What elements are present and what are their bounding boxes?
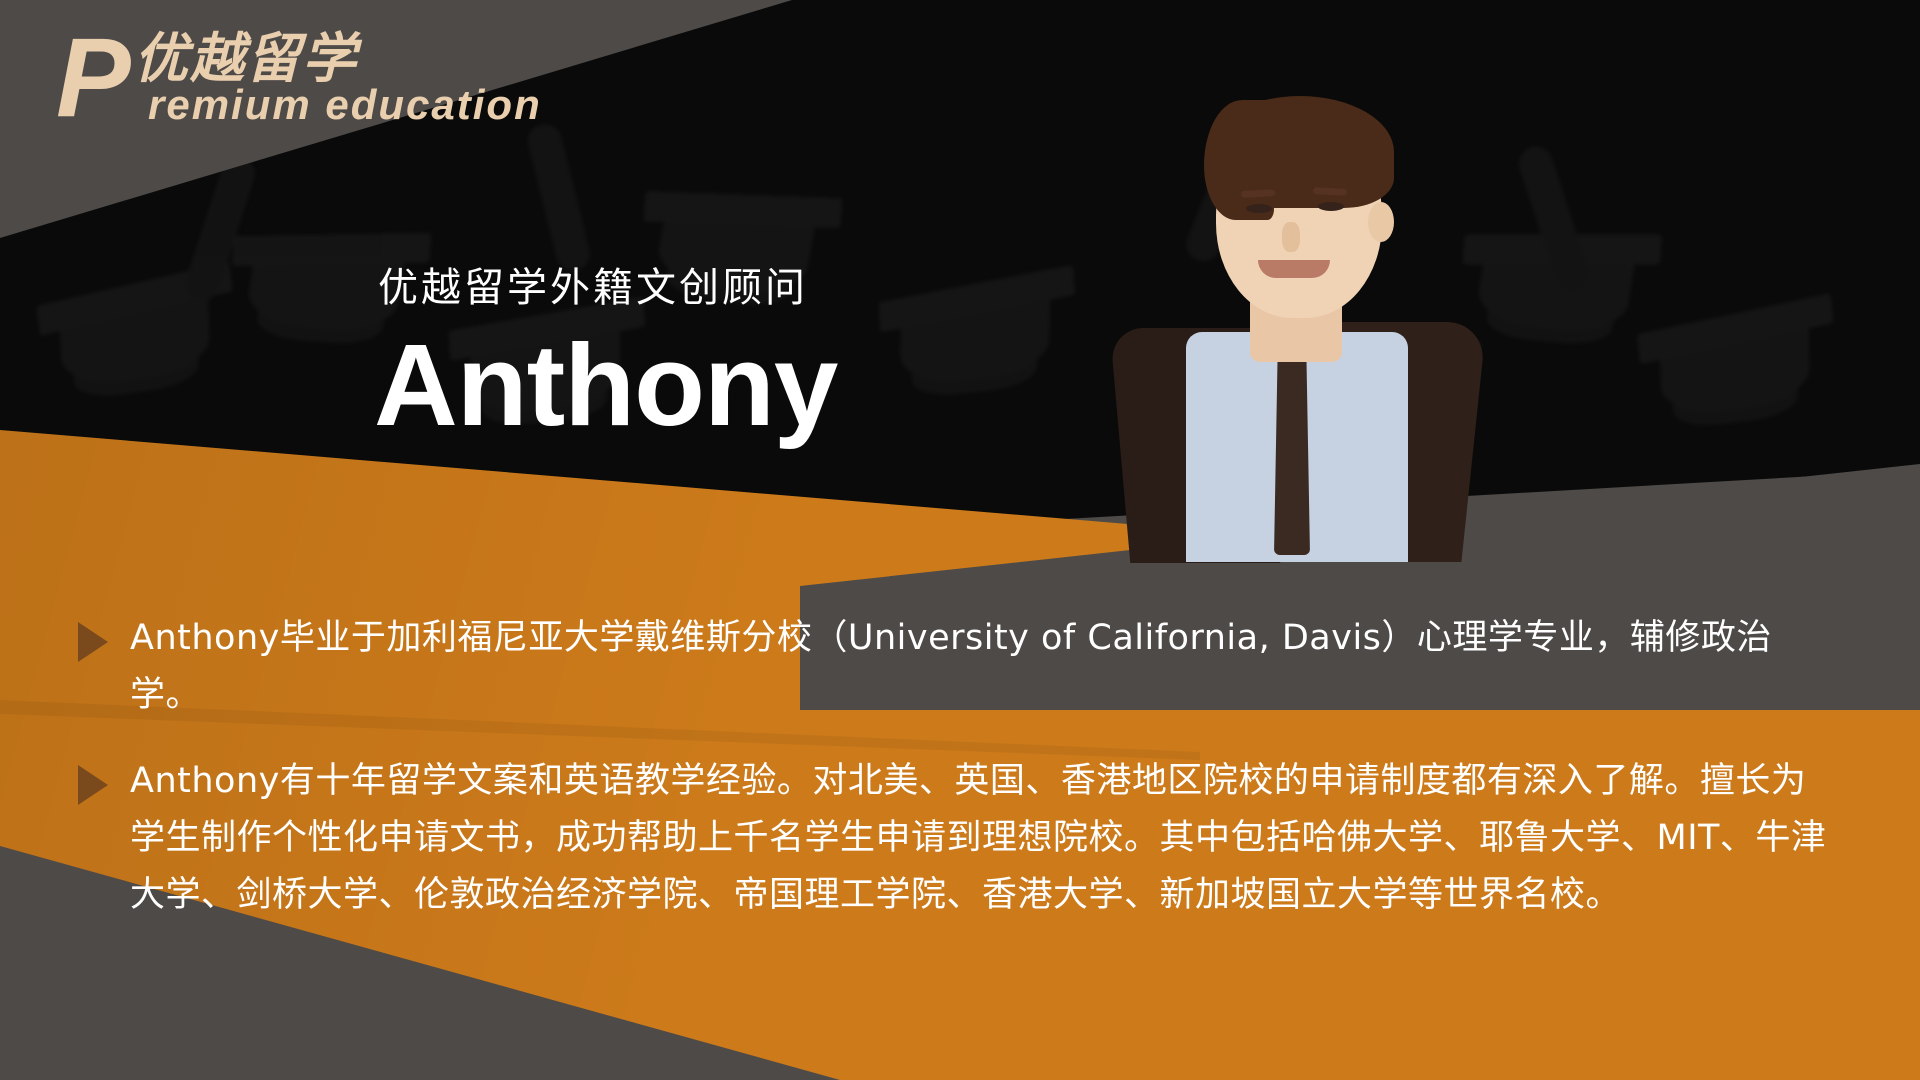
person-name: Anthony bbox=[374, 325, 837, 447]
triangle-marker-icon bbox=[78, 765, 108, 805]
portrait-nose bbox=[1282, 222, 1300, 252]
logo-english-name: remium education bbox=[148, 84, 542, 126]
portrait-eye-right bbox=[1318, 202, 1344, 211]
portrait-photo bbox=[1100, 70, 1490, 560]
bullet-text: Anthony毕业于加利福尼亚大学戴维斯分校（University of Cal… bbox=[130, 610, 1830, 723]
portrait-hair-side bbox=[1204, 100, 1274, 220]
bullet-item: Anthony有十年留学文案和英语教学经验。对北美、英国、香港地区院校的申请制度… bbox=[78, 753, 1868, 923]
logo-monogram-p: P bbox=[56, 22, 129, 134]
brand-logo: P 优越留学 remium education bbox=[56, 26, 616, 136]
bullet-list: Anthony毕业于加利福尼亚大学戴维斯分校（University of Cal… bbox=[78, 610, 1868, 953]
role-subtitle: 优越留学外籍文创顾问 bbox=[378, 255, 808, 313]
slide-canvas: P 优越留学 remium education 优越留学外籍文创顾问 Antho… bbox=[0, 0, 1920, 1080]
portrait-eye-left bbox=[1246, 204, 1272, 213]
bullet-text: Anthony有十年留学文案和英语教学经验。对北美、英国、香港地区院校的申请制度… bbox=[130, 753, 1830, 923]
portrait-ear bbox=[1368, 202, 1394, 242]
bullet-item: Anthony毕业于加利福尼亚大学戴维斯分校（University of Cal… bbox=[78, 610, 1868, 723]
logo-chinese-name: 优越留学 bbox=[134, 32, 358, 86]
portrait-tie bbox=[1274, 355, 1310, 555]
portrait-smile bbox=[1258, 260, 1330, 278]
triangle-marker-icon bbox=[78, 622, 108, 662]
